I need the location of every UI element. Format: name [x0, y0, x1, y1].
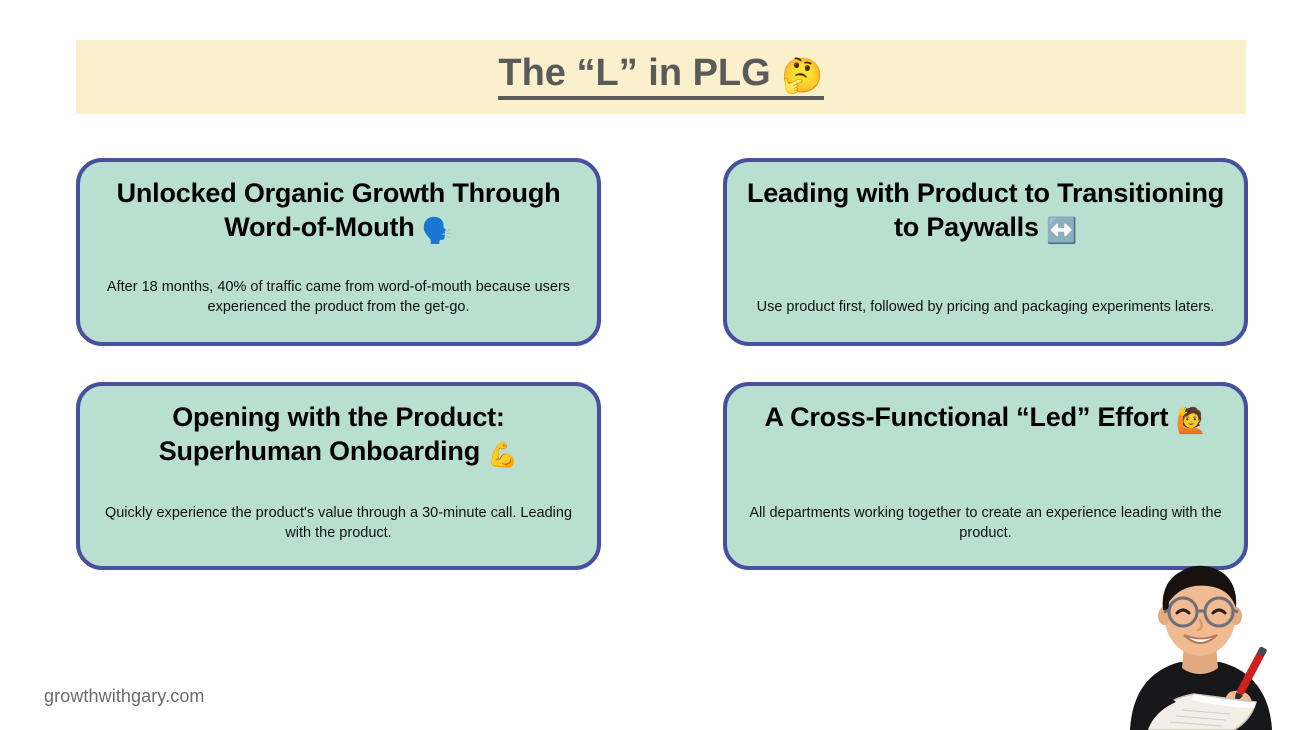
flexed-biceps-icon: 💪	[487, 441, 518, 469]
card-heading-text: A Cross-Functional “Led” Effort	[764, 402, 1175, 432]
card-heading: Leading with Product to Transitioning to…	[745, 176, 1226, 248]
card-body: After 18 months, 40% of traffic came fro…	[99, 277, 579, 332]
left-right-arrow-icon: ↔️	[1046, 217, 1077, 245]
presenter-video-cutout	[1084, 552, 1292, 730]
title-banner: The “L” in PLG 🤔	[76, 40, 1246, 114]
card-body: Quickly experience the product's value t…	[99, 503, 579, 556]
card-body: All departments working together to crea…	[746, 503, 1226, 556]
card-heading-text: Opening with the Product: Superhuman Onb…	[159, 402, 505, 466]
page-title-text: The “L” in PLG	[498, 52, 781, 94]
card-heading: Opening with the Product: Superhuman Onb…	[98, 400, 579, 472]
footer-watermark: growthwithgary.com	[44, 686, 205, 707]
page-title: The “L” in PLG 🤔	[498, 54, 823, 101]
card-leading-with-product[interactable]: Leading with Product to Transitioning to…	[723, 158, 1248, 346]
card-body: Use product first, followed by pricing a…	[757, 297, 1215, 332]
card-heading-text: Unlocked Organic Growth Through Word-of-…	[117, 178, 561, 242]
card-opening-with-product[interactable]: Opening with the Product: Superhuman Onb…	[76, 382, 601, 570]
card-unlocked-organic-growth[interactable]: Unlocked Organic Growth Through Word-of-…	[76, 158, 601, 346]
thinking-face-icon: 🤔	[781, 57, 823, 95]
person-raising-hand-icon: 🙋	[1176, 407, 1207, 435]
card-heading-text: Leading with Product to Transitioning to…	[747, 178, 1224, 242]
presenter-illustration	[1084, 552, 1292, 730]
card-heading: A Cross-Functional “Led” Effort 🙋	[764, 400, 1206, 438]
card-grid: Unlocked Organic Growth Through Word-of-…	[76, 158, 1248, 570]
card-cross-functional-effort[interactable]: A Cross-Functional “Led” Effort 🙋 All de…	[723, 382, 1248, 570]
speaking-head-icon: 🗣️	[422, 217, 453, 245]
card-heading: Unlocked Organic Growth Through Word-of-…	[98, 176, 579, 248]
